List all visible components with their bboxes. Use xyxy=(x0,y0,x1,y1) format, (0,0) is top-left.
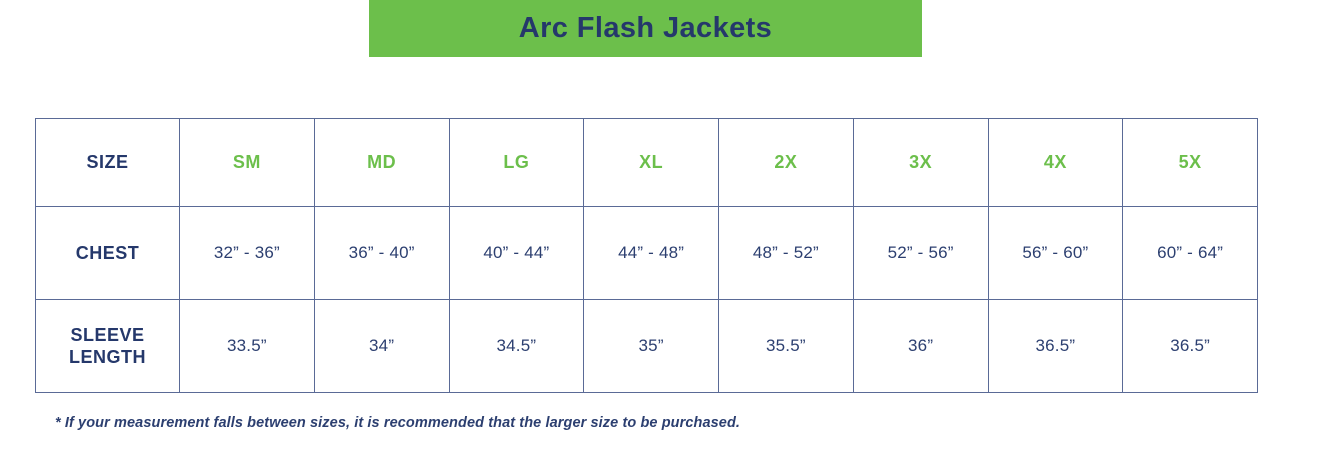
cell-value: 44” - 48” xyxy=(584,243,718,263)
cell-sleeve-xl: 35” xyxy=(584,300,719,393)
cell-value: 34.5” xyxy=(450,336,584,356)
header-cell-lg: LG xyxy=(449,119,584,207)
header-cell-4x: 4X xyxy=(988,119,1123,207)
cell-value: 40” - 44” xyxy=(450,243,584,263)
header-label-lg: LG xyxy=(503,152,529,172)
header-cell-sm: SM xyxy=(180,119,315,207)
table-row-sleeve-length: SLEEVE LENGTH 33.5” 34” 34.5” 35” 35.5” xyxy=(36,300,1258,393)
cell-value: 60” - 64” xyxy=(1123,243,1257,263)
cell-value: 36.5” xyxy=(989,336,1123,356)
cell-value: 34” xyxy=(315,336,449,356)
cell-value: 36” xyxy=(854,336,988,356)
header-label-2x: 2X xyxy=(774,152,797,172)
row-label-sleeve-length: SLEEVE LENGTH xyxy=(36,300,180,393)
cell-value: 33.5” xyxy=(180,336,314,356)
cell-value: 52” - 56” xyxy=(854,243,988,263)
table-row-chest: CHEST 32” - 36” 36” - 40” 40” - 44” 44” … xyxy=(36,207,1258,300)
cell-value: 36.5” xyxy=(1123,336,1257,356)
cell-chest-md: 36” - 40” xyxy=(314,207,449,300)
cell-value: 35.5” xyxy=(719,336,853,356)
cell-value: 35” xyxy=(584,336,718,356)
cell-sleeve-2x: 35.5” xyxy=(719,300,854,393)
header-cell-5x: 5X xyxy=(1123,119,1258,207)
cell-chest-5x: 60” - 64” xyxy=(1123,207,1258,300)
cell-value: 36” - 40” xyxy=(315,243,449,263)
header-label-md: MD xyxy=(367,152,396,172)
cell-sleeve-3x: 36” xyxy=(853,300,988,393)
row-label-chest: CHEST xyxy=(36,207,180,300)
header-label-size: SIZE xyxy=(86,152,128,172)
header-label-5x: 5X xyxy=(1179,152,1202,172)
cell-value: 48” - 52” xyxy=(719,243,853,263)
cell-value: 32” - 36” xyxy=(180,243,314,263)
title-banner: Arc Flash Jackets xyxy=(369,0,922,57)
table-header-row: SIZE SM MD LG XL 2X 3X xyxy=(36,119,1258,207)
cell-sleeve-sm: 33.5” xyxy=(180,300,315,393)
cell-chest-3x: 52” - 56” xyxy=(853,207,988,300)
size-chart-container: SIZE SM MD LG XL 2X 3X xyxy=(35,118,1257,393)
header-cell-md: MD xyxy=(314,119,449,207)
cell-chest-sm: 32” - 36” xyxy=(180,207,315,300)
cell-sleeve-4x: 36.5” xyxy=(988,300,1123,393)
cell-value: 56” - 60” xyxy=(989,243,1123,263)
row-label-chest-text: CHEST xyxy=(36,242,179,265)
header-label-4x: 4X xyxy=(1044,152,1067,172)
cell-chest-lg: 40” - 44” xyxy=(449,207,584,300)
header-cell-size: SIZE xyxy=(36,119,180,207)
header-label-sm: SM xyxy=(233,152,261,172)
header-cell-2x: 2X xyxy=(719,119,854,207)
header-cell-3x: 3X xyxy=(853,119,988,207)
cell-chest-2x: 48” - 52” xyxy=(719,207,854,300)
cell-sleeve-lg: 34.5” xyxy=(449,300,584,393)
cell-chest-xl: 44” - 48” xyxy=(584,207,719,300)
cell-sleeve-5x: 36.5” xyxy=(1123,300,1258,393)
row-label-sleeve-line2: LENGTH xyxy=(36,346,179,369)
row-label-sleeve-line1: SLEEVE xyxy=(36,324,179,347)
header-label-3x: 3X xyxy=(909,152,932,172)
size-chart-table: SIZE SM MD LG XL 2X 3X xyxy=(35,118,1258,393)
footnote-text: * If your measurement falls between size… xyxy=(55,415,740,431)
header-label-xl: XL xyxy=(639,152,663,172)
cell-sleeve-md: 34” xyxy=(314,300,449,393)
header-cell-xl: XL xyxy=(584,119,719,207)
cell-chest-4x: 56” - 60” xyxy=(988,207,1123,300)
page-title: Arc Flash Jackets xyxy=(519,14,772,43)
